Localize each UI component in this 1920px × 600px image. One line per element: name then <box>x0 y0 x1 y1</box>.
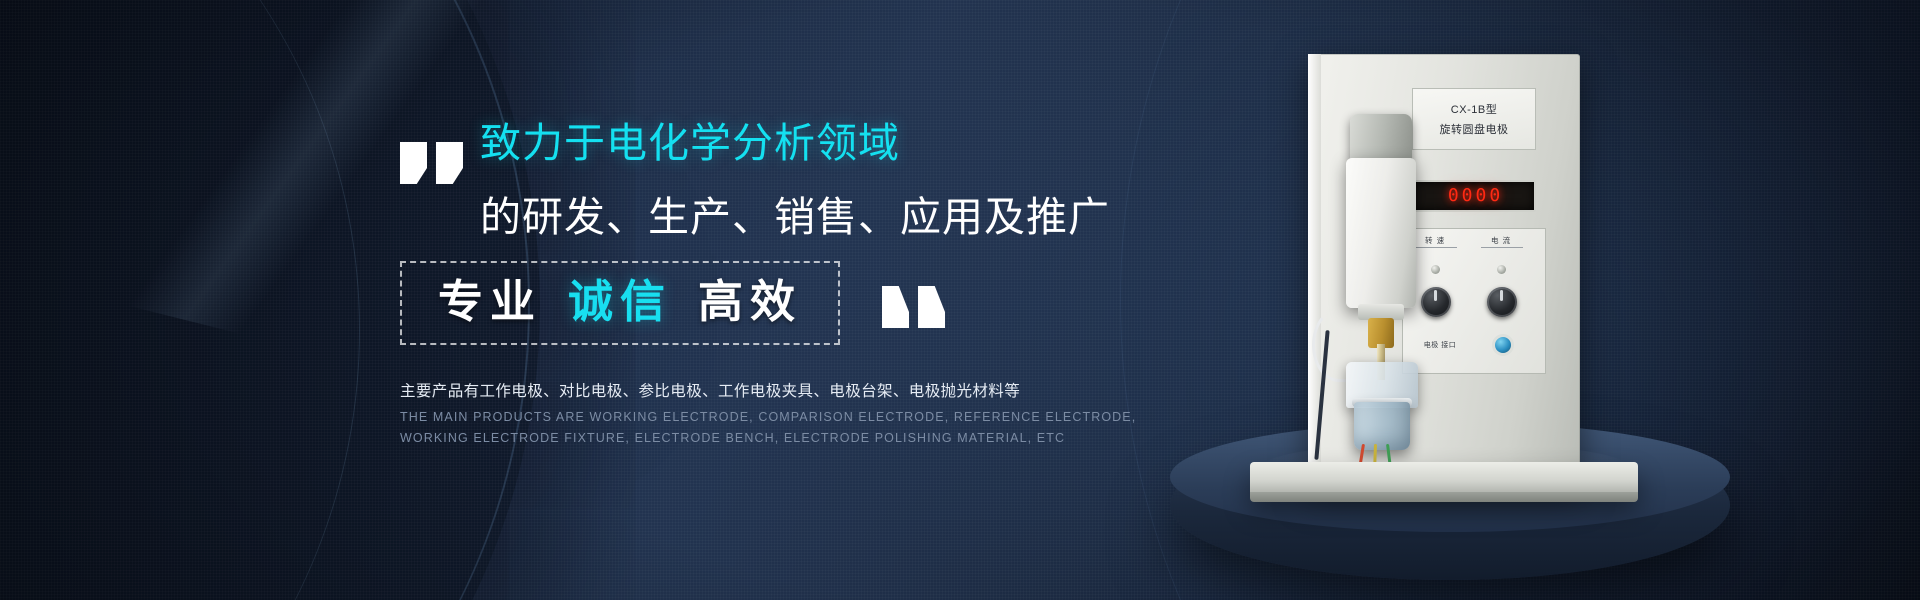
instrument-led-display: 0 0 0 0 <box>1412 180 1536 212</box>
led-digit-2: 0 <box>1462 187 1473 205</box>
control-divider-right <box>1481 247 1523 248</box>
control-knob-current[interactable] <box>1487 287 1517 317</box>
slogan-word-1: 专业 <box>438 277 542 327</box>
led-digit-1: 0 <box>1448 187 1459 205</box>
led-digit-3: 0 <box>1476 187 1487 205</box>
instrument-label-plate: CX-1B型 旋转圆盘电极 <box>1412 88 1536 150</box>
product-image: CX-1B型 旋转圆盘电极 0 0 0 0 转 速 电 流 电极 接口 <box>1140 30 1760 590</box>
quote-open-icon <box>400 142 466 186</box>
control-electrode-jack[interactable] <box>1495 337 1511 353</box>
slogan-box: 专业 诚信 高效 <box>400 261 840 345</box>
led-digit-4: 0 <box>1489 187 1500 205</box>
headline-row-1: 致力于电化学分析领域 <box>400 118 1160 186</box>
control-screw-right <box>1497 265 1506 274</box>
instrument-control-panel: 转 速 电 流 电极 接口 <box>1402 228 1546 374</box>
slogan-word-3: 高效 <box>698 277 802 327</box>
slogan-word-2: 诚信 <box>568 277 672 327</box>
instrument-base <box>1250 462 1638 496</box>
control-label-current: 电 流 <box>1491 235 1511 246</box>
control-screw-left <box>1431 265 1440 274</box>
rotator-motor-cap <box>1350 114 1412 164</box>
hero-description-en-line2: WORKING ELECTRODE FIXTURE, ELECTRODE BEN… <box>400 431 1160 445</box>
control-label-speed: 转 速 <box>1425 235 1445 246</box>
hero-banner: 致力于电化学分析领域 的研发、生产、销售、应用及推广 专业 诚信 高效 主要产品… <box>0 0 1920 600</box>
hero-headline-line2: 的研发、生产、销售、应用及推广 <box>480 192 1160 243</box>
control-knob-speed[interactable] <box>1421 287 1451 317</box>
hero-copy-block: 致力于电化学分析领域 的研发、生产、销售、应用及推广 专业 诚信 高效 主要产品… <box>400 118 1160 445</box>
hero-description-en-line1: THE MAIN PRODUCTS ARE WORKING ELECTRODE,… <box>400 410 1160 424</box>
control-label-electrode-port: 电极 接口 <box>1417 341 1463 350</box>
instrument-name-label: 旋转圆盘电极 <box>1440 121 1509 137</box>
instrument-model-label: CX-1B型 <box>1451 101 1497 117</box>
hero-headline-line1: 致力于电化学分析领域 <box>480 118 900 169</box>
slogan-row: 专业 诚信 高效 <box>400 261 1160 345</box>
rotator-motor-body <box>1346 158 1416 308</box>
instrument-base-front <box>1250 492 1638 502</box>
hero-description-cn: 主要产品有工作电极、对比电极、参比电极、工作电极夹具、电极台架、电极抛光材料等 <box>400 379 1160 401</box>
electrochemical-cell-beaker <box>1354 402 1410 450</box>
control-divider-left <box>1415 247 1457 248</box>
